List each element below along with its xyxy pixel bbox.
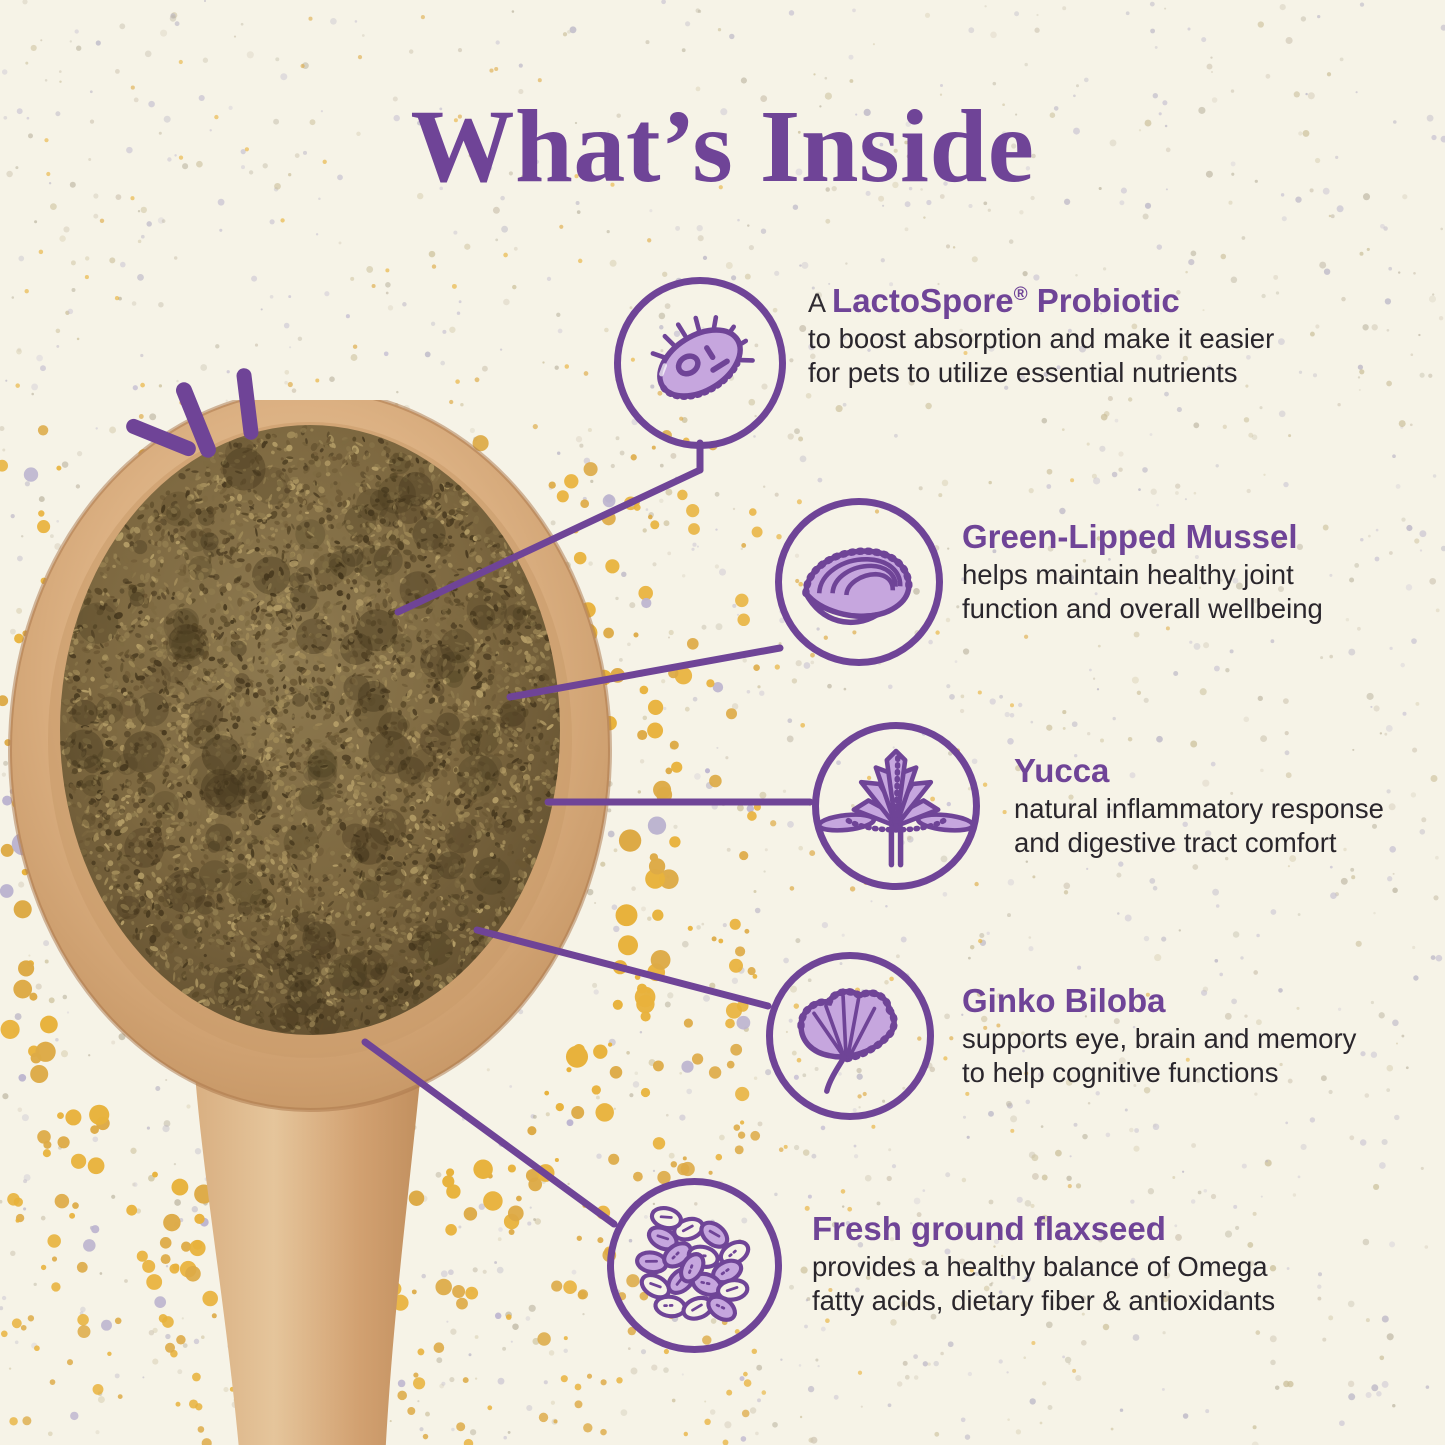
callout-body-line-2: fatty acids, dietary fiber & antioxidant… <box>812 1284 1275 1318</box>
callout-title: Fresh ground flaxseed <box>812 1210 1275 1248</box>
callout-body-line-1: helps maintain healthy joint <box>962 558 1323 592</box>
callout-body-line-1: to boost absorption and make it easier <box>808 322 1274 356</box>
callout-title: Yucca <box>1014 752 1384 790</box>
callout-body-line-2: and digestive tract comfort <box>1014 826 1384 860</box>
callout-title: Ginko Biloba <box>962 982 1356 1020</box>
callout-body-line-2: for pets to utilize essential nutrients <box>808 356 1274 390</box>
callout-body-line-2: function and overall wellbeing <box>962 592 1323 626</box>
callout-body-line-2: to help cognitive functions <box>962 1056 1356 1090</box>
flax-seeds-icon <box>607 1178 782 1353</box>
callout-body-line-1: provides a healthy balance of Omega <box>812 1250 1275 1284</box>
infographic-canvas: A LactoSpore® Probiotic to boost absorpt… <box>0 0 1445 1445</box>
page-title: What’s Inside <box>0 92 1445 201</box>
callout-body-line-1: natural inflammatory response <box>1014 792 1384 826</box>
callout-title-main: LactoSpore <box>832 282 1014 319</box>
registered-mark: ® <box>1014 284 1028 305</box>
mussel-shell-icon <box>775 498 943 666</box>
callout-title: A LactoSpore® Probiotic <box>808 282 1274 320</box>
yucca-plant-icon <box>812 722 980 890</box>
ginkgo-leaf-icon <box>766 952 934 1120</box>
callout-body-line-1: supports eye, brain and memory <box>962 1022 1356 1056</box>
bacteria-probiotic-icon <box>614 277 786 449</box>
callout-title: Green-Lipped Mussel <box>962 518 1323 556</box>
callout-lead: A <box>808 288 832 318</box>
callout-title-tail: Probiotic <box>1028 282 1180 319</box>
